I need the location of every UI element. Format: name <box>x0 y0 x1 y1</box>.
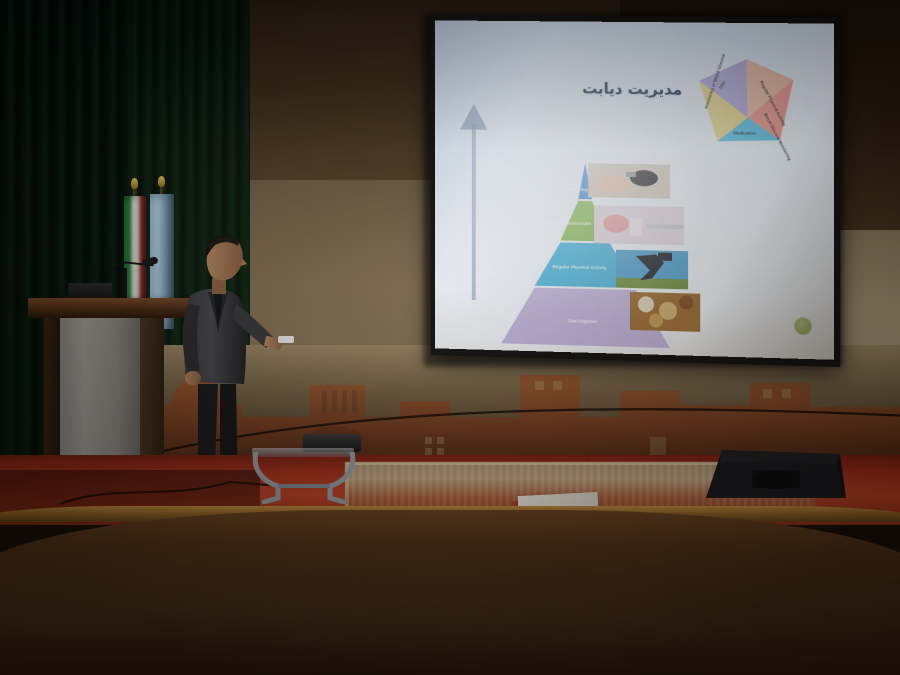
pyramid-label-2: Treatment and Insulin <box>545 220 592 226</box>
flag-finial-blue <box>158 176 165 187</box>
presenter-neck <box>212 278 226 294</box>
stage-monitor-speaker <box>700 444 852 502</box>
pentagon-diagram: Diet Regular Physical Activity Blood Glu… <box>672 50 824 183</box>
presenter-nose <box>241 258 247 266</box>
wood-grain-overlay <box>0 510 900 675</box>
pentagon-label-medication: Medication <box>733 130 756 135</box>
flag-finial-iran <box>131 178 138 189</box>
gooseneck-microphone <box>106 260 154 302</box>
pyramid-label-1: Monitoring <box>564 187 588 192</box>
thumbnail-blood-glucose-test-photo <box>588 163 670 198</box>
thumbnail-healthy-food-photo <box>630 292 700 332</box>
stool-legs <box>248 452 360 504</box>
thumbnail-insulin-syringe-photo <box>594 205 684 245</box>
thumbnail-running-legs-photo <box>616 250 688 290</box>
auditorium-scene: مدیریت دیابت Diet Regimen Regular Physic… <box>0 0 900 675</box>
projection-screen: مدیریت دیابت Diet Regimen Regular Physic… <box>435 20 834 359</box>
upward-arrow-icon <box>460 104 487 301</box>
presenter-remote <box>278 336 294 343</box>
pyramid-label-4: Diet Regimen <box>568 318 597 324</box>
stage-platform <box>0 510 900 675</box>
presenter-hand-left <box>185 371 201 385</box>
green-circle-logo <box>794 317 811 335</box>
